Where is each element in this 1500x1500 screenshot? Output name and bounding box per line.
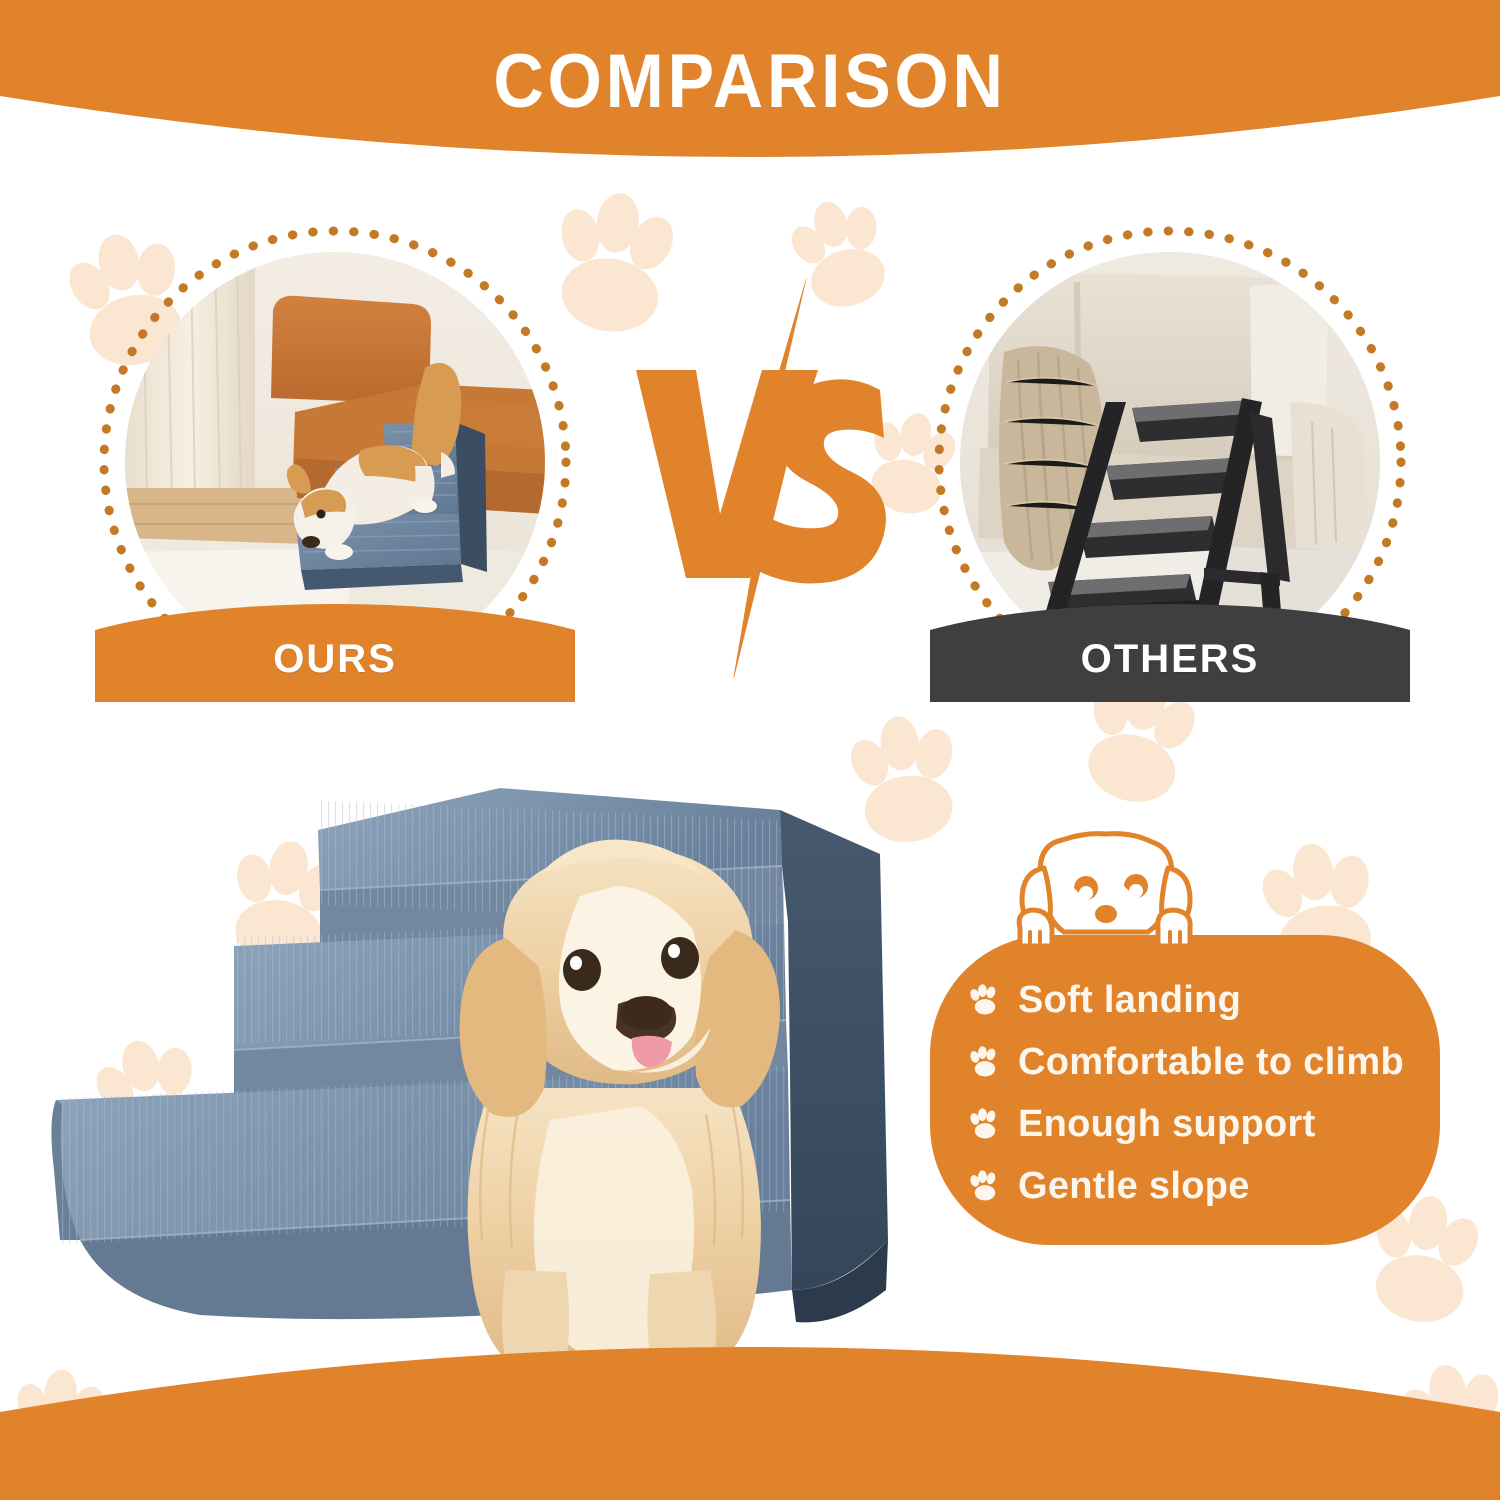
features-panel: Soft landing Comfortable to climb (930, 935, 1440, 1245)
paw-icon (968, 1169, 1002, 1203)
footer-banner-shape (0, 1340, 1500, 1500)
feature-item: Soft landing (930, 969, 1440, 1031)
feature-item: Enough support (930, 1093, 1440, 1155)
feature-label: Gentle slope (1018, 1167, 1250, 1205)
paw-icon (968, 983, 1002, 1017)
others-label: OTHERS (1081, 637, 1260, 682)
hero-product-image (20, 770, 960, 1410)
feature-label: Enough support (1018, 1105, 1316, 1143)
ours-label-band: OURS (95, 572, 575, 702)
feature-item: Comfortable to climb (930, 1031, 1440, 1093)
paw-icon (968, 1107, 1002, 1141)
ours-label: OURS (273, 637, 397, 682)
vs-badge (612, 278, 912, 678)
feature-item: Gentle slope (930, 1155, 1440, 1217)
infographic-canvas: COMPARISON (0, 0, 1500, 1500)
peeking-dog-icon (1000, 828, 1210, 968)
others-label-band: OTHERS (930, 572, 1410, 702)
comparison-card-others[interactable]: OTHERS (930, 222, 1410, 702)
feature-label: Soft landing (1018, 981, 1241, 1019)
paw-icon (968, 1045, 1002, 1079)
page-title: COMPARISON (60, 38, 1440, 125)
comparison-card-ours[interactable]: OURS (95, 222, 575, 702)
feature-label: Comfortable to climb (1018, 1043, 1404, 1081)
